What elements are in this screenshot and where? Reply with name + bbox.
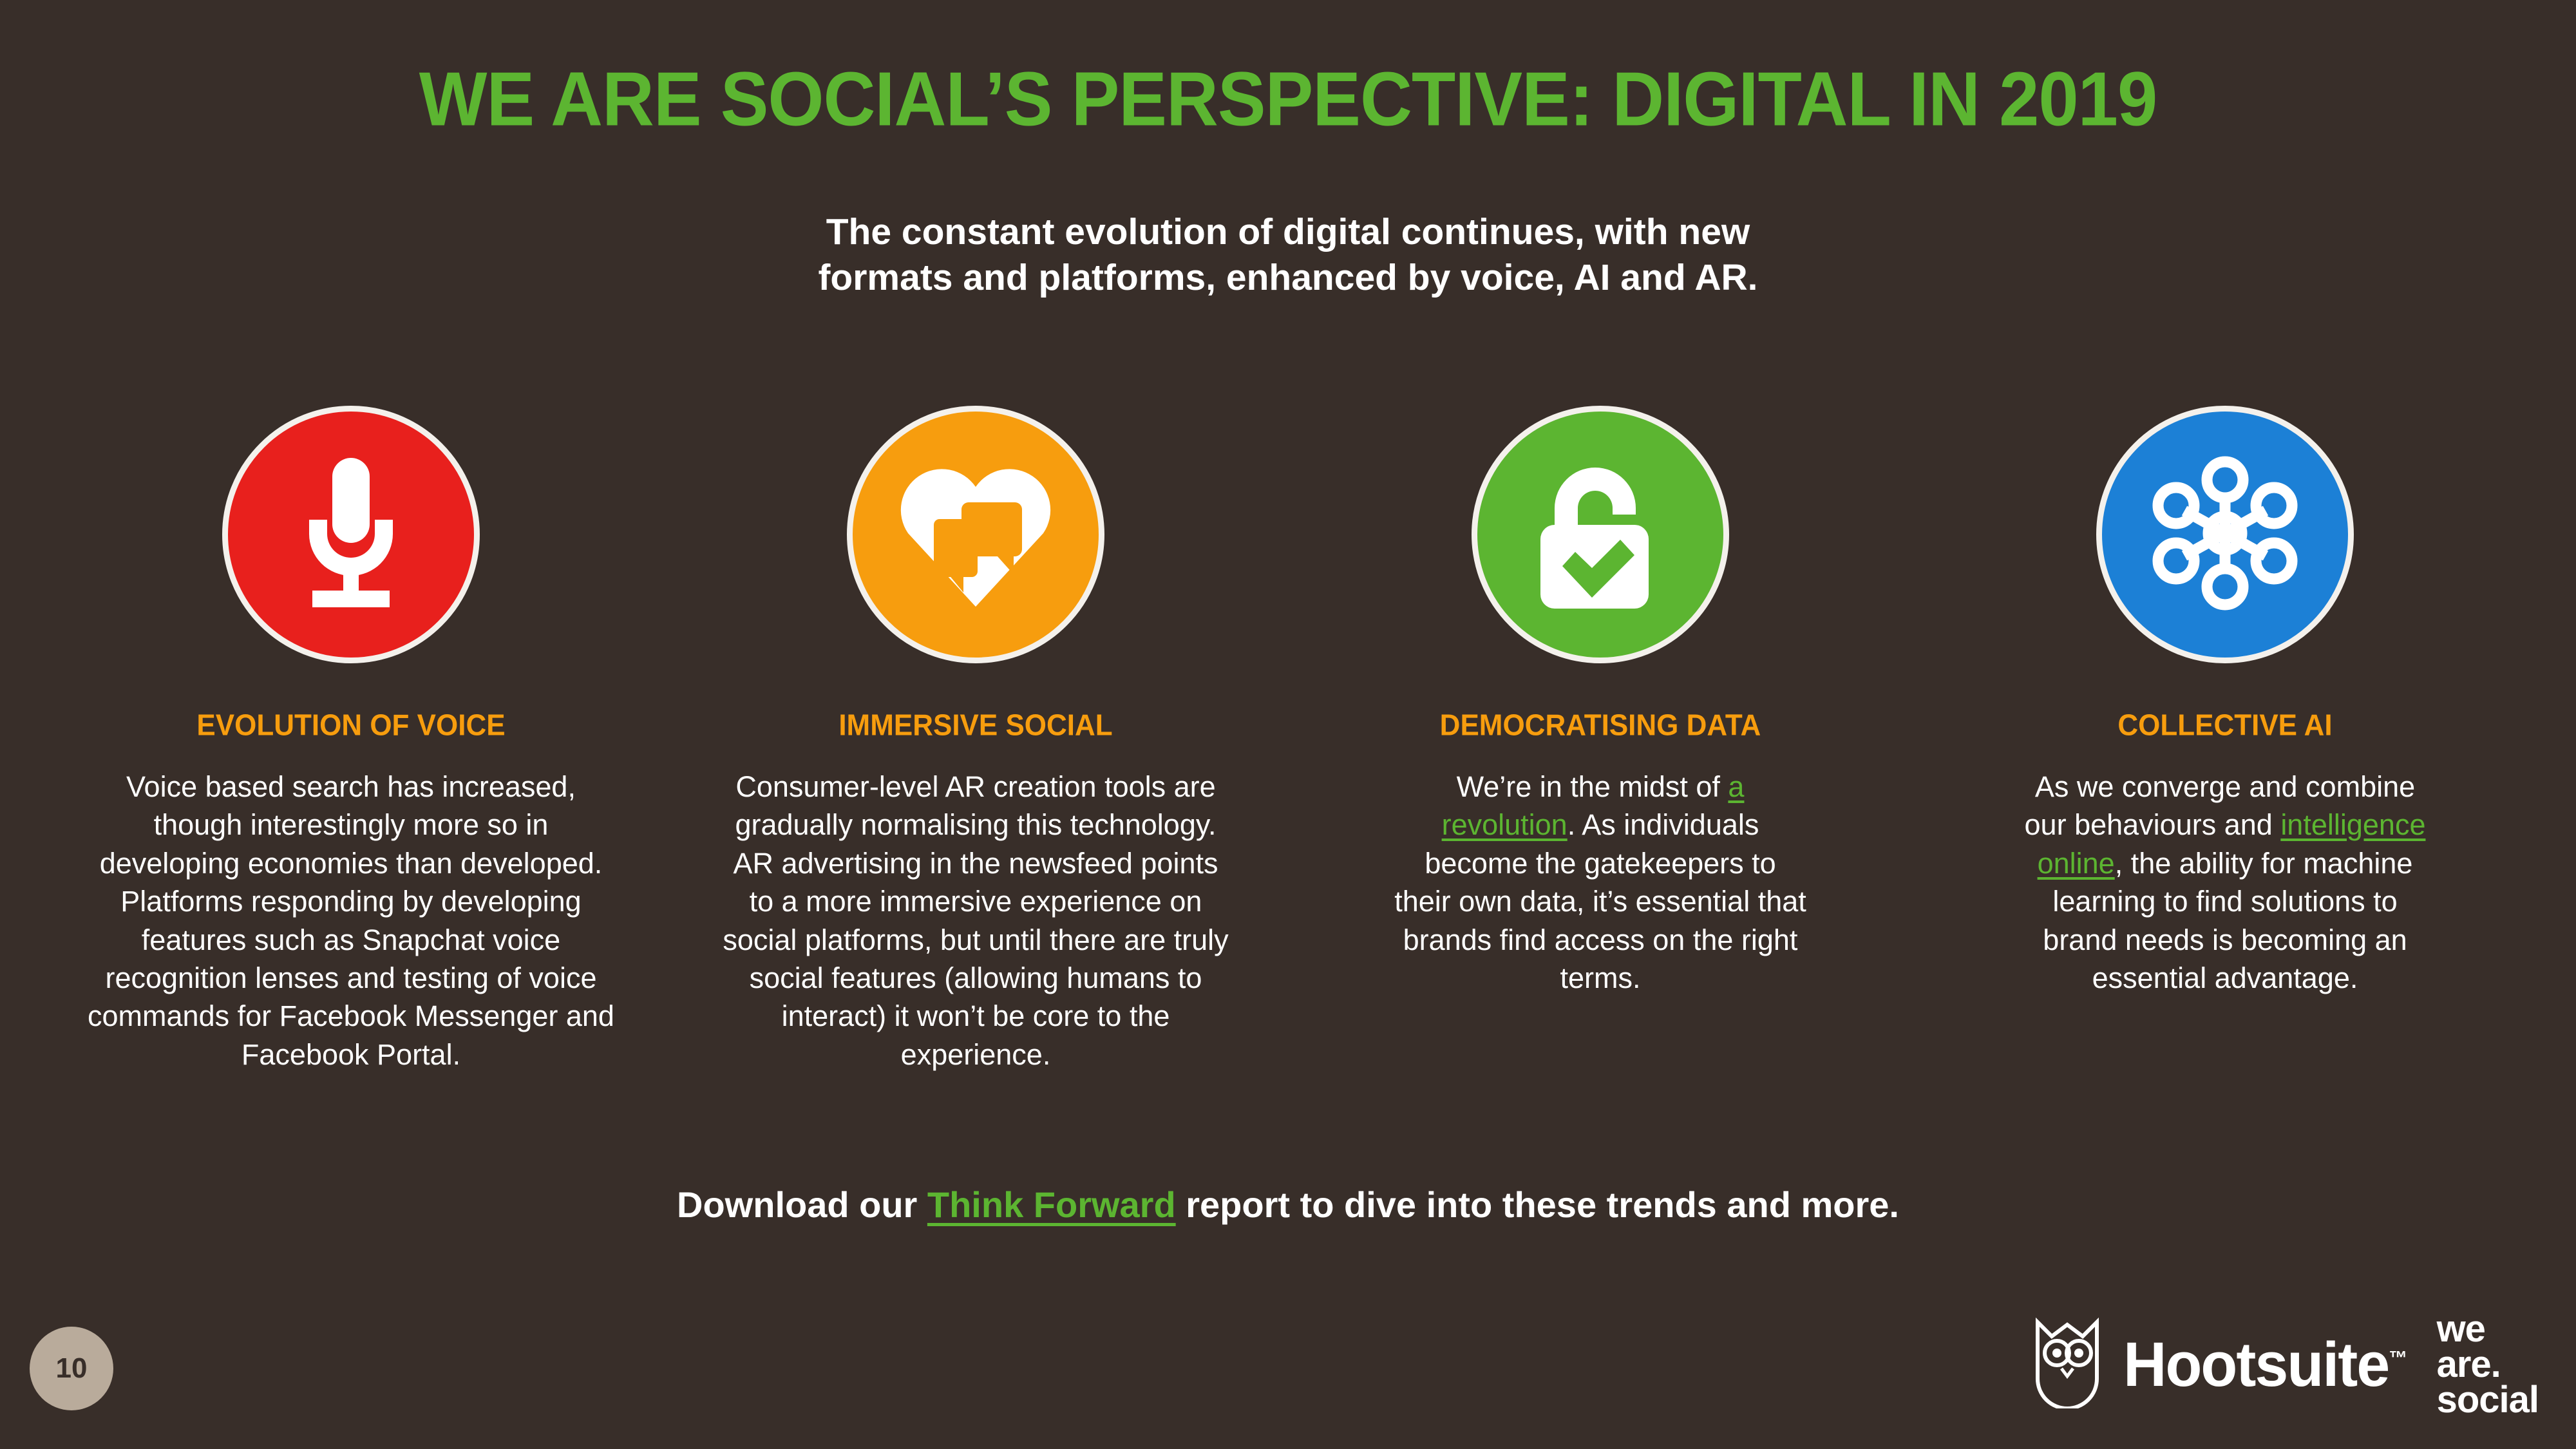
microphone-icon <box>283 453 419 617</box>
think-forward-link[interactable]: Think Forward <box>927 1184 1176 1225</box>
hootsuite-wordmark: Hootsuite™ <box>2123 1333 2406 1396</box>
footer-logos: Hootsuite™ we are. social <box>2034 1311 2539 1417</box>
network-nodes-icon-circle <box>2096 406 2354 663</box>
page-number-label: 10 <box>56 1352 88 1385</box>
we-are-social-logo: we are. social <box>2437 1311 2539 1417</box>
unlocked-padlock-check-icon <box>1526 453 1674 617</box>
column-heading: COLLECTIVE AI <box>2117 709 2332 743</box>
microphone-icon-circle <box>222 406 480 663</box>
subtitle-line-2: formats and platforms, enhanced by voice… <box>0 255 2576 301</box>
slide-subtitle: The constant evolution of digital contin… <box>0 209 2576 300</box>
we-are-social-line-3: social <box>2437 1382 2539 1417</box>
trend-columns: EVOLUTION OF VOICE Voice based search ha… <box>39 406 2537 1074</box>
body-text-part-1: We’re in the midst of <box>1457 770 1728 803</box>
column-body-text: We’re in the midst of a revolution. As i… <box>1394 768 1806 997</box>
column-body-text: Voice based search has increased, though… <box>87 768 615 1074</box>
subtitle-line-1: The constant evolution of digital contin… <box>0 209 2576 255</box>
heart-chat-icon-circle <box>847 406 1104 663</box>
heart-chat-icon <box>895 457 1056 612</box>
page-title: WE ARE SOCIAL’S PERSPECTIVE: DIGITAL IN … <box>0 61 2576 138</box>
we-are-social-line-2: are. <box>2437 1347 2539 1382</box>
cta-download-line: Download our Think Forward report to div… <box>0 1184 2576 1226</box>
column-body-text: As we converge and combine our behaviour… <box>2016 768 2434 997</box>
owl-icon <box>2034 1317 2101 1412</box>
trend-column-democratising-data: DEMOCRATISING DATA We’re in the midst of… <box>1288 406 1913 997</box>
trend-column-immersive-social: IMMERSIVE SOCIAL Consumer-level AR creat… <box>663 406 1288 1074</box>
cta-prefix: Download our <box>677 1184 927 1225</box>
we-are-social-line-1: we <box>2437 1311 2539 1347</box>
column-heading: DEMOCRATISING DATA <box>1440 709 1761 743</box>
cta-suffix: report to dive into these trends and mor… <box>1176 1184 1899 1225</box>
trend-column-evolution-of-voice: EVOLUTION OF VOICE Voice based search ha… <box>39 406 663 1074</box>
network-nodes-icon <box>2145 453 2306 617</box>
trend-column-collective-ai: COLLECTIVE AI As we converge and combine… <box>1913 406 2537 997</box>
hootsuite-logo: Hootsuite™ <box>2034 1317 2412 1412</box>
page-number-badge: 10 <box>30 1327 113 1410</box>
trademark-symbol: ™ <box>2389 1348 2407 1369</box>
column-heading: EVOLUTION OF VOICE <box>196 709 505 743</box>
unlocked-padlock-check-icon-circle <box>1472 406 1729 663</box>
column-heading: IMMERSIVE SOCIAL <box>838 709 1112 743</box>
column-body-text: Consumer-level AR creation tools are gra… <box>721 768 1230 1074</box>
hootsuite-wordmark-text: Hootsuite <box>2123 1329 2389 1399</box>
